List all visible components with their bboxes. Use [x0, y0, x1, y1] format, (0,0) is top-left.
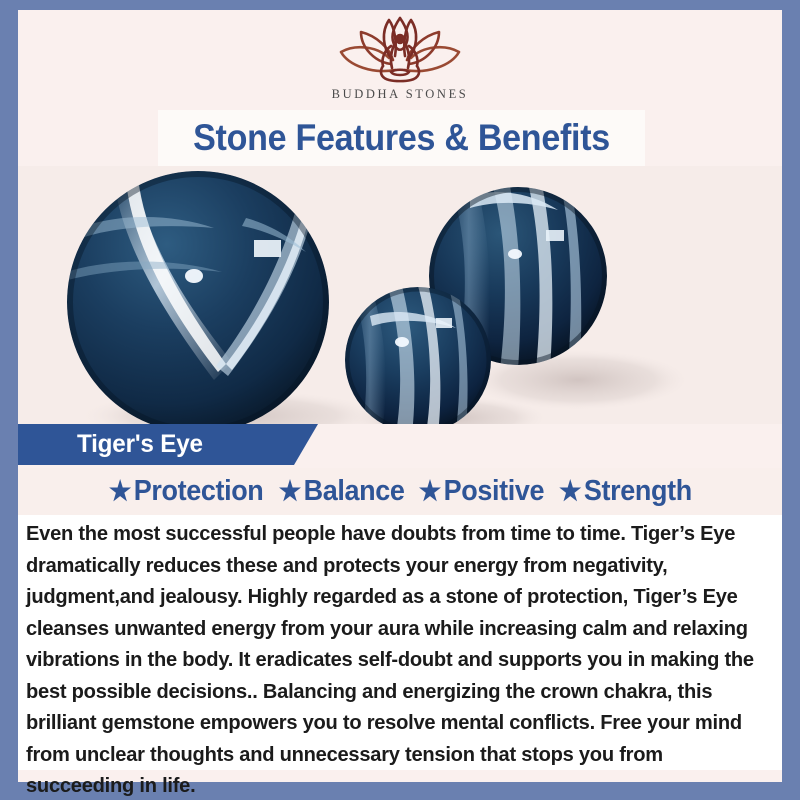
brand-wordmark: BUDDHA STONES: [332, 87, 469, 102]
benefit-label: Strength: [584, 475, 692, 508]
stone-name-label: Tiger's Eye: [77, 430, 203, 459]
benefit-label: Positive: [444, 475, 544, 508]
description-block: Even the most successful people have dou…: [18, 515, 782, 770]
page-title: Stone Features & Benefits: [193, 117, 610, 159]
benefit-label: Protection: [134, 475, 264, 508]
benefit-item-balance: ★ Balance: [279, 475, 405, 508]
benefit-item-strength: ★ Strength: [559, 475, 692, 508]
benefit-item-protection: ★ Protection: [109, 475, 264, 508]
star-icon: ★: [419, 478, 441, 505]
description-text: Even the most successful people have dou…: [26, 519, 757, 800]
benefits-row: ★ Protection ★ Balance ★ Positive ★ Stre…: [18, 468, 782, 515]
poster-card: BUDDHA STONES Stone Features & Benefits: [18, 10, 782, 782]
star-icon: ★: [109, 478, 131, 505]
brand-logo: BUDDHA STONES: [18, 14, 782, 102]
benefit-item-positive: ★ Positive: [419, 475, 544, 508]
benefit-label: Balance: [304, 475, 405, 508]
title-band: Stone Features & Benefits: [158, 110, 645, 166]
stone-photo: [18, 166, 782, 424]
lotus-meditation-icon: [333, 14, 467, 86]
stone-spheres-illustration: [18, 166, 782, 424]
poster-root: BUDDHA STONES Stone Features & Benefits: [0, 0, 800, 800]
stone-name-ribbon: Tiger's Eye: [18, 424, 318, 465]
star-icon: ★: [559, 478, 581, 505]
star-icon: ★: [279, 478, 301, 505]
